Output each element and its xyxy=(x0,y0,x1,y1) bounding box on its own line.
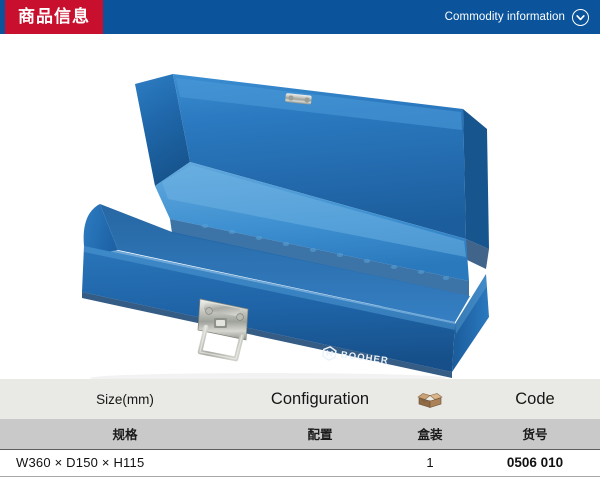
product-image-stage: BOOHER xyxy=(0,34,600,379)
booher-hex-logo-icon xyxy=(321,345,338,362)
header-configuration-cn: 配置 xyxy=(250,419,390,449)
table-row[interactable]: W360 × D150 × H115 1 0506 010 xyxy=(0,449,600,476)
product-spec-table: Size(mm) Configuration Code 规格 配置 盒装 xyxy=(0,379,600,477)
cell-code: 0506 010 xyxy=(470,449,600,476)
chevron-down-circle-icon[interactable] xyxy=(572,9,589,26)
toolbox-product-image xyxy=(0,34,600,379)
header-size-cn: 规格 xyxy=(0,419,250,449)
header-packing-en xyxy=(390,379,470,419)
page-header-bar: 商品信息 Commodity information xyxy=(0,0,600,34)
table-header-row-en: Size(mm) Configuration Code xyxy=(0,379,600,419)
header-right-group[interactable]: Commodity information xyxy=(445,9,600,26)
header-size-en: Size(mm) xyxy=(0,379,250,419)
header-configuration-en: Configuration xyxy=(250,379,390,419)
table-header-row-cn: 规格 配置 盒装 货号 xyxy=(0,419,600,449)
header-right-label: Commodity information xyxy=(445,11,565,23)
table-footer-space xyxy=(0,477,600,498)
header-packing-cn: 盒装 xyxy=(390,419,470,449)
header-tab-label: 商品信息 xyxy=(18,9,90,26)
cell-size: W360 × D150 × H115 xyxy=(0,449,250,476)
header-tab-commodity-info[interactable]: 商品信息 xyxy=(5,0,103,34)
carton-box-icon xyxy=(417,390,443,409)
cell-packing: 1 xyxy=(390,449,470,476)
cell-configuration xyxy=(250,449,390,476)
header-code-cn: 货号 xyxy=(470,419,600,449)
header-code-en: Code xyxy=(470,379,600,419)
